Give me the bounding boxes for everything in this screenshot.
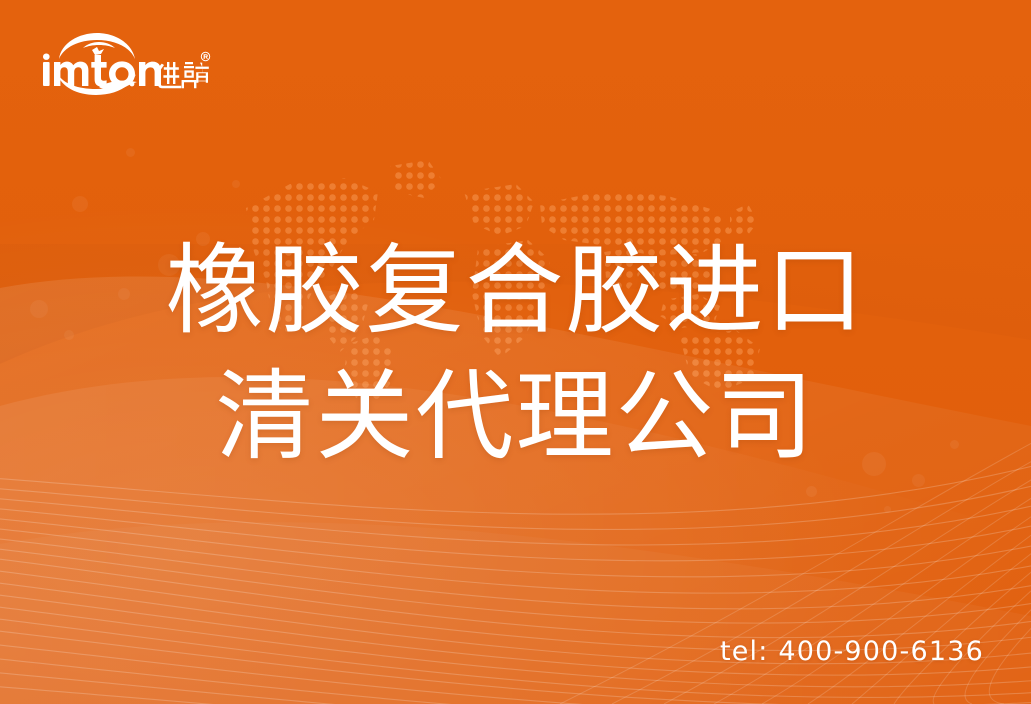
headline-line-2: 清关代理公司 xyxy=(0,354,1031,480)
promo-banner: 橡胶复合胶进口 清关代理公司 tel: 400-900-6136 xyxy=(0,0,1031,704)
headline-line-1: 橡胶复合胶进口 xyxy=(0,228,1031,354)
imton-logo[interactable] xyxy=(37,29,212,101)
page-title: 橡胶复合胶进口 清关代理公司 xyxy=(0,228,1031,480)
contact-phone[interactable]: tel: 400-900-6136 xyxy=(720,636,984,667)
